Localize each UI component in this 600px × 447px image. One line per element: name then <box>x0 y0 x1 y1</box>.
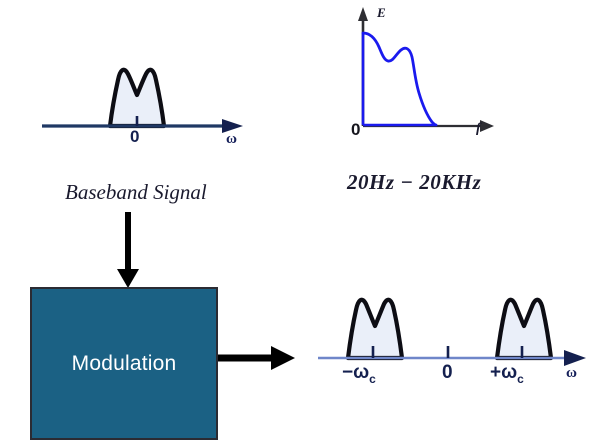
input-arrow-head <box>117 269 139 288</box>
energy-curve <box>363 33 436 125</box>
modulated-axis-label-omega: ω <box>566 365 577 382</box>
modulated-tick-label-negative-wc-sub: c <box>369 372 376 386</box>
output-arrow-head <box>271 346 295 370</box>
diagram-canvas: 0 ω E f 0 20Hz − 20KHz Baseband Signal <box>0 0 600 447</box>
modulated-spectrum <box>310 288 595 373</box>
energy-y-axis-arrowhead <box>358 7 368 21</box>
modulated-tick-label-zero: 0 <box>442 362 453 384</box>
modulated-hump-positive <box>497 300 551 358</box>
baseband-spectrum <box>30 40 260 145</box>
modulated-tick-label-positive-wc: +ωc <box>490 362 524 386</box>
modulated-tick-label-negative-wc-text: −ω <box>342 362 369 383</box>
modulation-block-label: Modulation <box>72 352 177 376</box>
modulation-block[interactable]: Modulation <box>30 287 218 440</box>
modulated-axis-arrowhead <box>564 350 586 366</box>
modulated-tick-label-negative-wc: −ωc <box>342 362 376 386</box>
modulated-tick-label-positive-wc-text: +ω <box>490 362 517 383</box>
input-arrow <box>112 210 144 290</box>
energy-x-axis-label: f <box>476 121 481 137</box>
output-arrow <box>216 342 298 374</box>
baseband-tick-label-zero: 0 <box>130 127 139 147</box>
energy-spectrum-chart <box>350 4 500 134</box>
modulated-hump-negative <box>348 300 402 358</box>
bandwidth-caption: 20Hz − 20KHz <box>347 170 481 195</box>
energy-x-axis-arrowhead <box>480 120 494 132</box>
energy-origin-label: 0 <box>351 120 360 140</box>
baseband-axis-label-omega: ω <box>226 131 237 148</box>
baseband-signal-label: Baseband Signal <box>65 180 207 205</box>
energy-y-axis-label: E <box>377 5 386 21</box>
modulated-tick-label-positive-wc-sub: c <box>517 372 524 386</box>
